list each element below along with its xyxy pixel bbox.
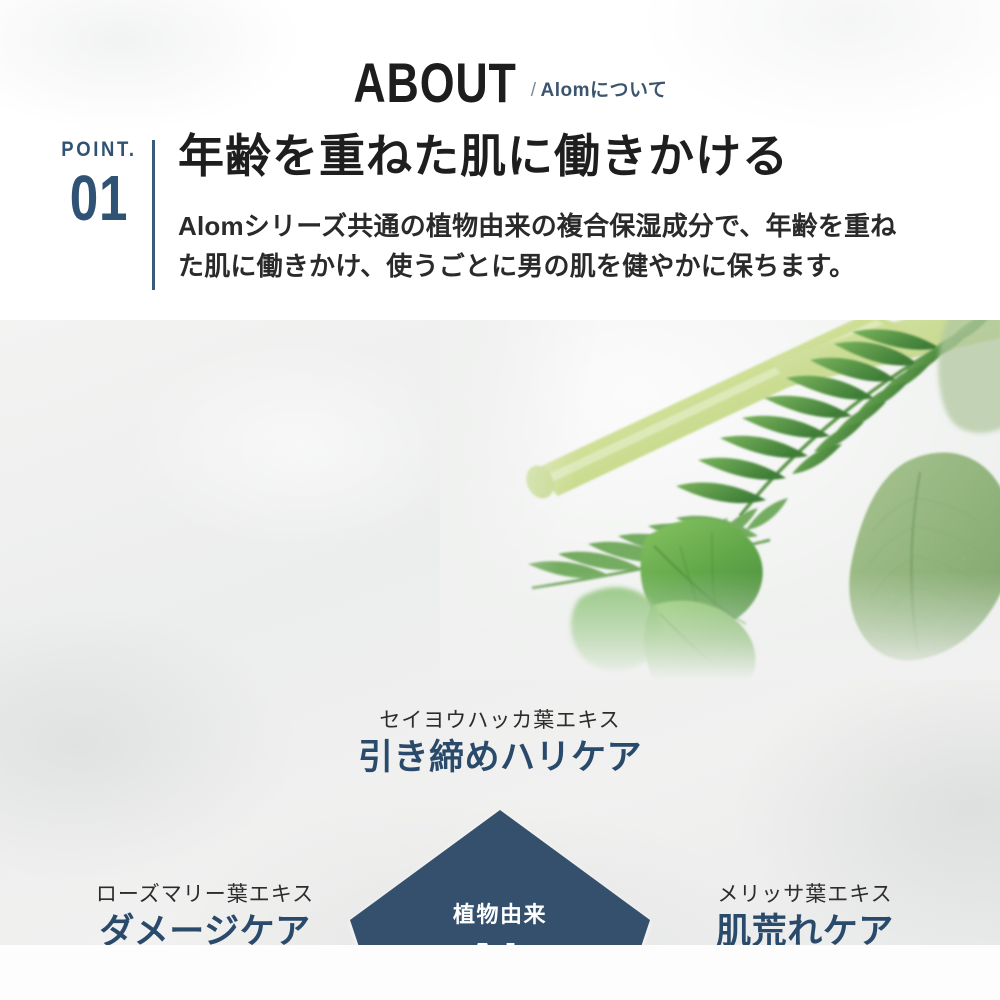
node-ingredient: メリッサ葉エキス	[645, 878, 965, 908]
about-heading-row: ABOUT/Alomについて	[0, 50, 1000, 115]
node-benefit: 肌荒れケア	[645, 912, 965, 945]
pentagon-content: 植物由来 AL コンプレックス	[345, 802, 655, 945]
node-benefit: 引き締めハリケア	[290, 738, 710, 778]
node-label-top: セイヨウハッカ葉エキス 引き締めハリケア	[290, 704, 710, 778]
headline: 年齢を重ねた肌に働きかける	[178, 130, 789, 183]
lead-paragraph: Alomシリーズ共通の植物由来の複合保湿成分で、年齢を重ね た肌に働きかけ、使う…	[178, 206, 978, 287]
point-label: POINT.	[51, 138, 148, 162]
point-badge: POINT. 01	[44, 138, 154, 229]
about-page: ABOUT/Alomについて POINT. 01 年齢を重ねた肌に働きかける A…	[0, 0, 1000, 1000]
pentagon-main-text: AL	[463, 933, 537, 945]
point-number: 01	[55, 168, 143, 229]
node-label-left: ローズマリー葉エキス ダメージケア	[40, 878, 370, 945]
node-label-right: メリッサ葉エキス 肌荒れケア	[645, 878, 965, 945]
pentagon-shape: 植物由来 AL コンプレックス	[345, 802, 655, 945]
pentagon-top-text: 植物由来	[453, 904, 547, 926]
ingredient-diagram-panel: 植物由来 AL コンプレックス セイヨウハッカ葉エキス 引き締めハリケア ローズ…	[0, 320, 1000, 945]
lead-line-1: Alomシリーズ共通の植物由来の複合保湿成分で、年齢を重ね	[178, 206, 978, 246]
photo-feather	[440, 320, 1000, 680]
node-ingredient: ローズマリー葉エキス	[40, 878, 370, 908]
node-ingredient: セイヨウハッカ葉エキス	[290, 704, 710, 734]
page-subtitle-text: Alomについて	[540, 80, 667, 101]
lead-line-2: た肌に働きかけ、使うごとに男の肌を健やかに保ちます。	[178, 246, 978, 286]
page-header: ABOUT/Alomについて POINT. 01 年齢を重ねた肌に働きかける A…	[0, 0, 1000, 320]
page-subtitle: /Alomについて	[531, 75, 668, 102]
page-title: ABOUT	[353, 50, 516, 115]
vertical-divider	[152, 140, 155, 290]
herb-photo	[440, 320, 1000, 680]
slash-separator: /	[531, 80, 537, 101]
footer-whitespace	[0, 945, 1000, 1000]
node-benefit: ダメージケア	[40, 912, 370, 945]
